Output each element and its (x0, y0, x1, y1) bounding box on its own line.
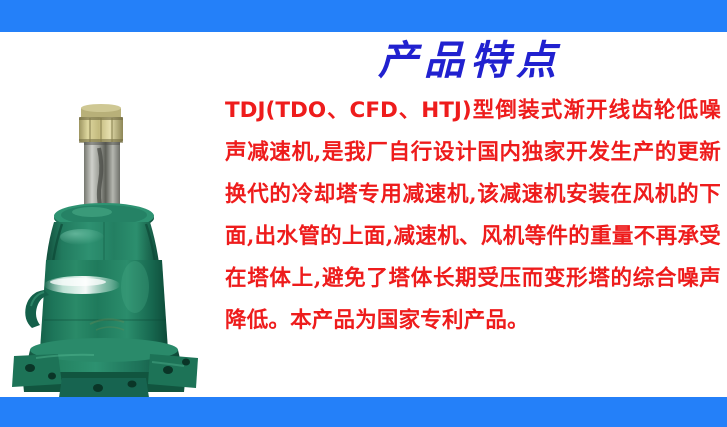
bottom-blue-band (0, 397, 727, 427)
product-feature-banner: 产品特点 TDJ(TDO、CFD、HTJ)型倒装式渐开线齿轮低噪声减速机,是我厂… (0, 0, 727, 427)
base-flange (12, 338, 198, 397)
page-title: 产品特点 (213, 36, 727, 86)
text-column: 产品特点 TDJ(TDO、CFD、HTJ)型倒装式渐开线齿轮低噪声减速机,是我厂… (213, 32, 727, 397)
product-photo (0, 32, 215, 397)
top-blue-band (0, 0, 727, 32)
brass-coupling (79, 104, 123, 143)
housing-body (40, 260, 168, 350)
housing-shoulder (46, 222, 159, 263)
gear-reducer-illustration (0, 32, 215, 397)
product-description-rest: 型倒装式渐开线齿轮低噪声减速机,是我厂自行设计国内独家开发生产的更新换代的冷却塔… (225, 98, 721, 333)
product-model-code: TDJ(TDO、CFD、HTJ) (225, 98, 472, 123)
product-description: TDJ(TDO、CFD、HTJ)型倒装式渐开线齿轮低噪声减速机,是我厂自行设计国… (225, 90, 721, 342)
